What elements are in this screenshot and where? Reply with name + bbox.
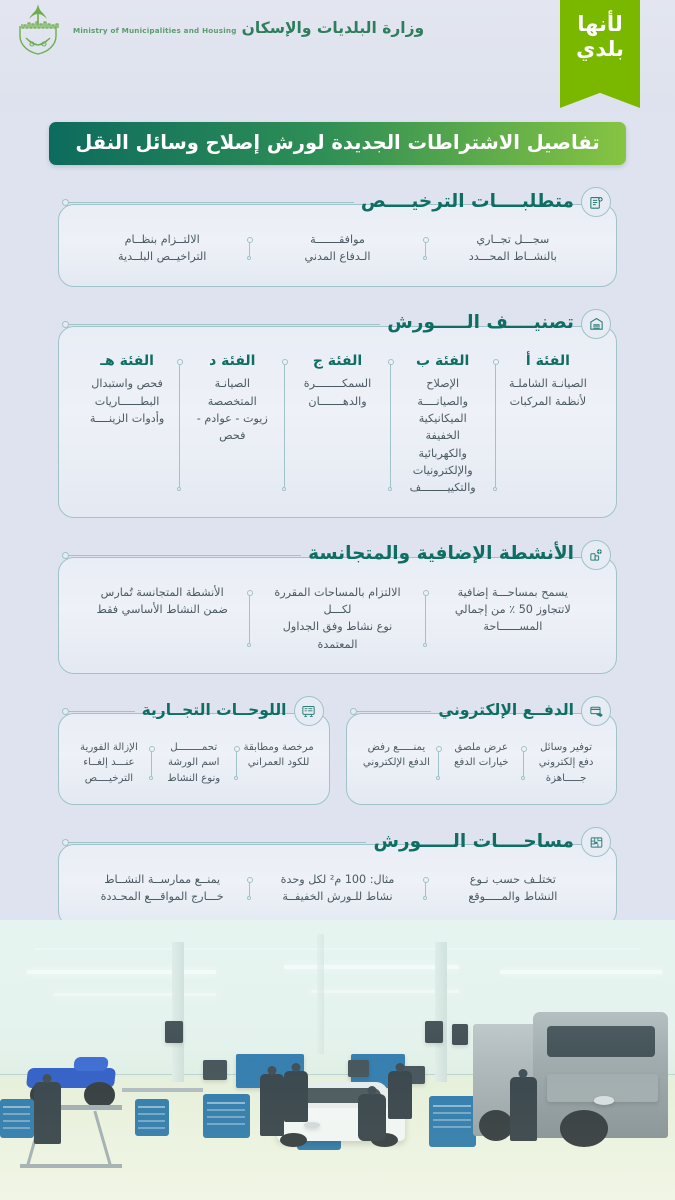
section-header: الأنشطة الإضافية والمتجانسة: [58, 540, 617, 570]
page-title-wrap: تفاصيل الاشتراطات الجديدة لورش إصلاح وسا…: [0, 122, 675, 165]
card-column: يسمح بمساحـــة إضافيةلاتتجاوز 50 ٪ من إج…: [426, 584, 600, 653]
column-divider: [438, 744, 439, 782]
column-text: الصيانـة الشاملـةلأنظمة المركبات: [508, 375, 588, 410]
workshop-garage-icon: [581, 309, 611, 339]
column-divider: [284, 357, 285, 493]
column-title: الفئة أ: [508, 353, 588, 371]
card-column: الفئة هـ فحص واستبدالالبطــــــارياتوأدو…: [75, 353, 179, 497]
card-column: الفئة أ الصيانـة الشاملـةلأنظمة المركبات: [496, 353, 600, 497]
card-column: توفير وسائلدفع إلكترونيجـــــاهزة: [524, 740, 608, 786]
section-header: الدفــع الإلكتروني: [346, 696, 618, 726]
sections-container: متطلبــــات الترخيــــص سجـــل تجــاريبا…: [0, 165, 675, 927]
two-column-sections-row: الدفــع الإلكتروني توفير وسائلدفع إلكترو…: [58, 696, 617, 805]
license-document-icon: [581, 187, 611, 217]
column-text: موافقـــــــةالـدفاع المدني: [262, 231, 412, 266]
ministry-logo: وزارة البلديات والإسكان Ministry of Muni…: [12, 0, 424, 56]
column-text: الأنشطة المتجانسة تُمارسضمن النشاط الأسا…: [87, 584, 237, 619]
column-text: يمنـــــع رفضالدفع الإلكتروني: [361, 740, 433, 771]
column-title: الفئة ب: [403, 353, 483, 371]
column-text: تحمــــــــلاسم الورشةونوع النشاط: [158, 740, 230, 786]
section-rule: [346, 711, 432, 712]
section-rule: [58, 323, 380, 324]
page-title: تفاصيل الاشتراطات الجديدة لورش إصلاح وسا…: [49, 122, 625, 165]
column-divider: [425, 235, 426, 262]
campaign-ribbon-line1: لأنها: [577, 12, 622, 36]
column-divider: [495, 357, 496, 493]
column-text: الإزالة الفوريةعنـــد إلغــاءالترخيــــص: [73, 740, 145, 786]
section-header: متطلبــــات الترخيــــص: [58, 187, 617, 217]
section-title: الدفــع الإلكتروني: [438, 703, 574, 719]
column-divider: [151, 744, 152, 782]
section-card: يسمح بمساحـــة إضافيةلاتتجاوز 50 ٪ من إج…: [58, 557, 617, 674]
section-title: الأنشطة الإضافية والمتجانسة: [308, 545, 574, 564]
column-text: الإصلاح والصيانــــةالميكانيكية الخفيفةو…: [403, 375, 483, 497]
card-payment-icon: [581, 696, 611, 726]
card-column: عرض ملصقخيارات الدفع: [439, 740, 523, 786]
column-text: سجـــل تجــاريبالنشــاط المحـــدد: [438, 231, 588, 266]
card-column: الإزالة الفوريةعنـــد إلغــاءالترخيــــص: [67, 740, 151, 786]
campaign-ribbon-text: لأنها بلدي: [576, 12, 624, 62]
column-divider: [425, 588, 426, 649]
campaign-ribbon: لأنها بلدي: [560, 0, 640, 108]
column-text: الصيانـة المتخصصةزيوت - عوادم - فحص: [192, 375, 272, 444]
card-column: تختلـف حسب نـوعالنشاط والمـــــوقع: [426, 871, 600, 906]
ministry-name-ar: وزارة البلديات والإسكان: [242, 19, 425, 37]
column-text: فحص واستبدالالبطــــــارياتوأدوات الزينـ…: [87, 375, 167, 427]
section-electronic-payment: الدفــع الإلكتروني توفير وسائلدفع إلكترو…: [346, 696, 618, 805]
column-text: تختلـف حسب نـوعالنشاط والمـــــوقع: [438, 871, 588, 906]
section-header: مساحــــات الـــــورش: [58, 827, 617, 857]
card-column: يمنــع ممارســة النشــاطخـــارج المواقــ…: [75, 871, 249, 906]
column-divider: [249, 588, 250, 649]
column-text: توفير وسائلدفع إلكترونيجـــــاهزة: [530, 740, 602, 786]
section-title: متطلبــــات الترخيــــص: [361, 193, 574, 212]
column-divider: [249, 875, 250, 902]
column-title: الفئة ج: [297, 353, 377, 371]
card-column: سجـــل تجــاريبالنشــاط المحـــدد: [426, 231, 600, 266]
card-column: مثال: 100 م² لكل وحدةنشاط للـورش الخفيفـ…: [250, 871, 424, 906]
ministry-name-en: Ministry of Municipalities and Housing: [73, 26, 237, 35]
column-text: الالتزام بالمساحات المقررة لكـــلنوع نشا…: [262, 584, 412, 653]
floor-plan-icon: [581, 827, 611, 857]
ministry-name: وزارة البلديات والإسكان Ministry of Muni…: [73, 18, 424, 38]
section-workshop-areas: مساحــــات الـــــورش تختلـف حسب نـوعالن…: [58, 827, 617, 927]
card-column: يمنـــــع رفضالدفع الإلكتروني: [355, 740, 439, 786]
section-workshop-classification: تصنيــــف الـــــورش الفئة أ الصيانـة ال…: [58, 309, 617, 518]
header-band: وزارة البلديات والإسكان Ministry of Muni…: [0, 0, 675, 112]
section-commercial-signs: اللوحــات التجــارية مرخصة ومطابقةللكود …: [58, 696, 330, 805]
campaign-ribbon-line2: بلدي: [576, 37, 624, 61]
card-column: الالتــزام بنظــامالتراخيــص البلــدية: [75, 231, 249, 266]
section-title: مساحــــات الـــــورش: [373, 833, 574, 852]
workshop-interior-photo: [0, 920, 675, 1200]
saudi-palm-swords-emblem: [12, 0, 64, 56]
column-title: الفئة هـ: [87, 353, 167, 371]
card-column: الالتزام بالمساحات المقررة لكـــلنوع نشا…: [250, 584, 424, 653]
activities-gear-icon: [581, 540, 611, 570]
section-card: توفير وسائلدفع إلكترونيجـــــاهزة عرض مل…: [346, 713, 618, 805]
signboard-icon: [294, 696, 324, 726]
section-title: اللوحــات التجــارية: [142, 703, 287, 719]
section-additional-activities: الأنشطة الإضافية والمتجانسة يسمح بمساحــ…: [58, 540, 617, 674]
column-text: يمنــع ممارســة النشــاطخـــارج المواقــ…: [87, 871, 237, 906]
card-column: موافقـــــــةالـدفاع المدني: [250, 231, 424, 266]
card-column: الأنشطة المتجانسة تُمارسضمن النشاط الأسا…: [75, 584, 249, 653]
card-column: تحمــــــــلاسم الورشةونوع النشاط: [152, 740, 236, 786]
card-column: مرخصة ومطابقةللكود العمراني: [237, 740, 321, 786]
card-column: الفئة ب الإصلاح والصيانــــةالميكانيكية …: [391, 353, 495, 497]
section-header: تصنيــــف الـــــورش: [58, 309, 617, 339]
card-column: الفئة د الصيانـة المتخصصةزيوت - عوادم - …: [180, 353, 284, 497]
section-rule: [58, 202, 354, 203]
column-text: السمكــــــــرةوالدهـــــــان: [297, 375, 377, 410]
card-column: الفئة ج السمكــــــــرةوالدهـــــــان: [285, 353, 389, 497]
section-rule: [58, 842, 366, 843]
column-text: الالتــزام بنظــامالتراخيــص البلــدية: [87, 231, 237, 266]
section-rule: [58, 711, 135, 712]
column-text: مثال: 100 م² لكل وحدةنشاط للـورش الخفيفـ…: [262, 871, 412, 906]
column-divider: [236, 744, 237, 782]
column-title: الفئة د: [192, 353, 272, 371]
section-header: اللوحــات التجــارية: [58, 696, 330, 726]
section-licensing-requirements: متطلبــــات الترخيــــص سجـــل تجــاريبا…: [58, 187, 617, 287]
column-text: يسمح بمساحـــة إضافيةلاتتجاوز 50 ٪ من إج…: [438, 584, 588, 636]
column-divider: [249, 235, 250, 262]
section-card: مرخصة ومطابقةللكود العمراني تحمــــــــل…: [58, 713, 330, 805]
column-text: عرض ملصقخيارات الدفع: [445, 740, 517, 771]
section-card: الفئة أ الصيانـة الشاملـةلأنظمة المركبات…: [58, 326, 617, 518]
column-divider: [523, 744, 524, 782]
column-divider: [179, 357, 180, 493]
section-rule: [58, 554, 301, 555]
column-text: مرخصة ومطابقةللكود العمراني: [243, 740, 315, 771]
section-title: تصنيــــف الـــــورش: [387, 314, 574, 333]
column-divider: [390, 357, 391, 493]
column-divider: [425, 875, 426, 902]
